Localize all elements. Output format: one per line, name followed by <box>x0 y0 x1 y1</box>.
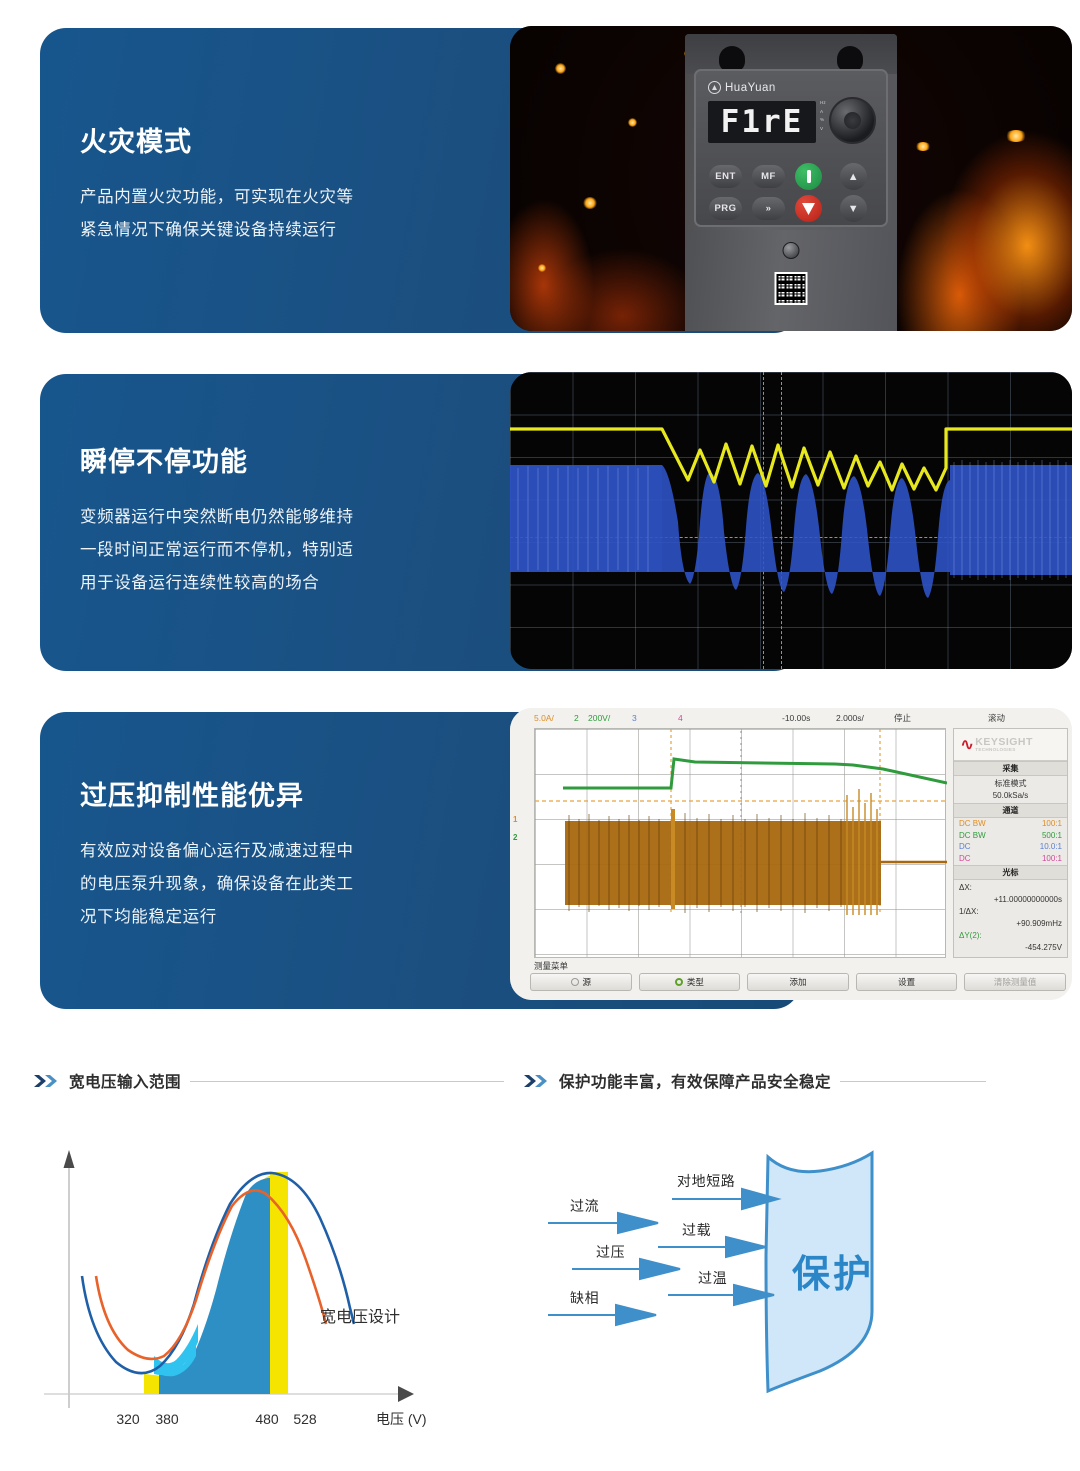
channel-2-number: 2 <box>574 713 579 723</box>
band-wide-voltage-right <box>270 1172 288 1394</box>
time-offset: -10.00s <box>782 713 810 723</box>
keysight-logo: ∿ KEYSIGHT TECHNOLOGIES <box>954 729 1067 761</box>
channel-probe: 10.0:1 <box>1040 841 1062 853</box>
brand-logo: HuaYuan <box>708 81 776 94</box>
arrow-head-overcurrent <box>618 1213 658 1233</box>
delta-y-label: ΔY(2): <box>959 930 1062 942</box>
settings-button-label: 设置 <box>898 976 915 988</box>
shift-button[interactable]: » <box>752 197 785 220</box>
channel-4-number: 4 <box>678 713 683 723</box>
settings-button[interactable]: 设置 <box>856 973 958 991</box>
label-overcurrent: 过流 <box>570 1196 599 1216</box>
channel-2-marker: 2 <box>513 833 517 842</box>
scope-side-panel: ∿ KEYSIGHT TECHNOLOGIES 采集 标准模式 50.0kSa/… <box>953 728 1068 958</box>
type-button-label: 类型 <box>687 976 704 988</box>
scope-ui: 5.0A/ 2 200V/ 3 4 -10.00s 2.000s/ 停止 滚动 <box>510 708 1072 1000</box>
spark-icon <box>583 197 597 209</box>
label-ground-short: 对地短路 <box>677 1171 735 1191</box>
x-tick-320: 320 <box>116 1411 140 1427</box>
unit-label: % <box>820 116 826 125</box>
keypad-panel: HuaYuan F1rE Hz A % V ENT MF <box>694 69 888 227</box>
card-description-line: 一段时间正常运行而不停机，特别适 <box>80 534 430 567</box>
channel-2-scale: 200V/ <box>588 713 610 723</box>
y-axis-arrow <box>64 1150 75 1168</box>
inverter-device: HuaYuan F1rE Hz A % V ENT MF <box>685 34 897 331</box>
arrow-head-overvoltage <box>640 1259 680 1279</box>
acquire-section-header: 采集 <box>954 761 1067 776</box>
run-button[interactable] <box>795 163 822 190</box>
section-rule <box>190 1081 504 1082</box>
lcd-display: F1rE <box>708 101 816 143</box>
x-tick-528: 528 <box>293 1411 317 1427</box>
cursors-section-body: ΔX: +11.00000000000s 1/ΔX: +90.909mHz ΔY… <box>954 880 1067 956</box>
down-arrow-button[interactable] <box>840 195 867 222</box>
channel-probe: 500:1 <box>1042 830 1062 842</box>
delta-x-value: +11.00000000000s <box>959 894 1062 906</box>
scope-traces <box>535 729 947 915</box>
add-button-label: 添加 <box>789 976 806 988</box>
scope-bottom-bar: 测量菜单 源 类型 添加 <box>510 960 1072 1000</box>
channel-1-marker: 1 <box>513 815 517 824</box>
stop-button[interactable] <box>795 195 822 222</box>
cursors-section-header: 光标 <box>954 865 1067 880</box>
channel-coupling: DC BW <box>959 830 986 842</box>
spark-icon <box>555 63 566 74</box>
device-body <box>685 230 897 331</box>
unit-label: A <box>820 108 826 117</box>
acq-mode-label: 滚动 <box>988 712 1005 724</box>
qr-code-label <box>775 272 808 305</box>
keysight-logo-text: KEYSIGHT TECHNOLOGIES <box>975 737 1033 753</box>
x-tick-380: 380 <box>155 1411 179 1427</box>
channel-row: DC 10.0:1 <box>954 841 1067 853</box>
channels-section-header: 通道 <box>954 803 1067 818</box>
feature-card-overvoltage: 过压抑制性能优异 有效应对设备偏心运行及减速过程中 的电压泵升现象，确保设备在此… <box>40 712 1040 1009</box>
feature-card-ride-through: 瞬停不停功能 变频器运行中突然断电仍然能够维持 一段时间正常运行而不停机，特别适… <box>40 374 1040 671</box>
card-description-line: 变频器运行中突然断电仍然能够维持 <box>80 501 430 534</box>
source-button-label: 源 <box>583 976 592 988</box>
channel-probe: 100:1 <box>1042 853 1062 865</box>
sample-rate: 50.0kSa/s <box>959 790 1062 802</box>
delta-y-value: -454.275V <box>959 942 1062 954</box>
ent-button[interactable]: ENT <box>709 165 742 188</box>
card-description-line: 有效应对设备偏心运行及减速过程中 <box>80 835 430 868</box>
channel-coupling: DC <box>959 853 971 865</box>
card-description-line: 紧急情况下确保关键设备持续运行 <box>80 214 430 247</box>
prg-button[interactable]: PRG <box>709 197 742 220</box>
keysight-scope-screenshot: 5.0A/ 2 200V/ 3 4 -10.00s 2.000s/ 停止 滚动 <box>510 708 1072 1000</box>
measure-menu-buttons: 源 类型 添加 设置 清除测量值 <box>530 973 1066 991</box>
spark-icon <box>1005 130 1027 142</box>
spark-icon <box>915 142 931 151</box>
protection-svg <box>520 1135 990 1435</box>
protection-diagram: 对地短路 过流 过载 过压 过温 缺相 保护 <box>520 1135 990 1435</box>
label-phase-loss: 缺相 <box>570 1288 599 1308</box>
waveform-traces <box>510 372 1072 669</box>
section-heading-voltage-range: 宽电压输入范围 <box>34 1070 504 1092</box>
double-chevron-icon <box>34 1074 60 1088</box>
scope-waveform-area: 1 2 <box>534 728 946 958</box>
double-chevron-icon <box>524 1074 550 1088</box>
clear-measurements-button[interactable]: 清除测量值 <box>964 973 1066 991</box>
up-arrow-button[interactable] <box>840 163 867 190</box>
channel-coupling: DC <box>959 841 971 853</box>
card-description-line: 况下均能稳定运行 <box>80 901 430 934</box>
label-overload: 过载 <box>682 1220 711 1240</box>
fire-mode-photo: HuaYuan F1rE Hz A % V ENT MF <box>510 26 1072 331</box>
wide-voltage-chart: 320 380 480 528 电压 (V) 宽电压设计 <box>24 1128 480 1448</box>
scope-top-bar: 5.0A/ 2 200V/ 3 4 -10.00s 2.000s/ 停止 滚动 <box>510 708 1072 728</box>
channel-3-number: 3 <box>632 713 637 723</box>
keysight-brand: KEYSIGHT <box>975 736 1033 748</box>
keypad-row-2: PRG » <box>709 195 867 222</box>
measure-menu-label: 测量菜单 <box>534 960 568 972</box>
channel-row: DC BW 500:1 <box>954 830 1067 842</box>
potentiometer-knob[interactable] <box>829 97 876 144</box>
channel-row: DC BW 100:1 <box>954 818 1067 830</box>
add-button[interactable]: 添加 <box>747 973 849 991</box>
acquire-section-body: 标准模式 50.0kSa/s <box>954 776 1067 803</box>
delta-x-label: ΔX: <box>959 882 1062 894</box>
card-description: 变频器运行中突然断电仍然能够维持 一段时间正常运行而不停机，特别适 用于设备运行… <box>80 501 430 600</box>
x-tick-480: 480 <box>255 1411 279 1427</box>
timebase: 2.000s/ <box>836 713 864 723</box>
spark-icon <box>538 264 546 272</box>
x-axis-arrow <box>398 1386 414 1402</box>
unit-label: Hz <box>820 99 826 108</box>
scope-screen <box>510 372 1072 669</box>
channel-coupling: DC BW <box>959 818 986 830</box>
section-heading-protection: 保护功能丰富，有效保障产品安全稳定 <box>524 1070 986 1092</box>
label-overvoltage: 过压 <box>596 1242 625 1262</box>
keysight-wave-icon: ∿ <box>960 735 972 755</box>
screw-icon <box>783 242 800 259</box>
channel-probe: 100:1 <box>1042 818 1062 830</box>
run-state: 停止 <box>894 712 911 724</box>
label-overtemp: 过温 <box>698 1268 727 1288</box>
source-icon <box>571 978 579 986</box>
shield-center-label: 保护 <box>792 1243 874 1298</box>
mf-button[interactable]: MF <box>752 165 785 188</box>
section-rule <box>840 1081 986 1082</box>
arrow-head-phase-loss <box>616 1305 656 1325</box>
acquire-mode: 标准模式 <box>959 778 1062 790</box>
device-top-cover <box>685 34 897 74</box>
source-button[interactable]: 源 <box>530 973 632 991</box>
card-description-line: 用于设备运行连续性较高的场合 <box>80 567 430 600</box>
keysight-subbrand: TECHNOLOGIES <box>975 748 1033 753</box>
section-title: 保护功能丰富，有效保障产品安全稳定 <box>559 1070 831 1092</box>
keypad-row-1: ENT MF <box>709 163 867 190</box>
brand-mark-icon <box>708 81 721 94</box>
x-axis-label: 电压 (V) <box>376 1411 427 1427</box>
unit-label: V <box>820 125 826 134</box>
page-root: 火灾模式 产品内置火灾功能，可实现在火灾等 紧急情况下确保关键设备持续运行 <box>0 0 1080 1471</box>
card-description: 产品内置火灾功能，可实现在火灾等 紧急情况下确保关键设备持续运行 <box>80 181 430 247</box>
card-description-line: 的电压泵升现象，确保设备在此类工 <box>80 868 430 901</box>
spark-icon <box>628 118 637 127</box>
channel-row: DC 100:1 <box>954 853 1067 865</box>
ride-through-waveform <box>510 372 1072 669</box>
inv-delta-x-value: +90.909mHz <box>959 918 1062 930</box>
section-title: 宽电压输入范围 <box>69 1070 181 1092</box>
arrow-head-overload <box>726 1237 766 1257</box>
lcd-value: F1rE <box>721 107 804 138</box>
brand-name: HuaYuan <box>725 82 776 94</box>
clear-measurements-label: 清除测量值 <box>994 976 1037 988</box>
type-icon <box>675 978 683 986</box>
unit-indicators: Hz A % V <box>820 99 826 134</box>
card-description-line: 产品内置火灾功能，可实现在火灾等 <box>80 181 430 214</box>
feature-card-fire-mode: 火灾模式 产品内置火灾功能，可实现在火灾等 紧急情况下确保关键设备持续运行 <box>40 28 1040 333</box>
chart-annotation: 宽电压设计 <box>320 1308 400 1326</box>
channel-1-scale: 5.0A/ <box>534 713 554 723</box>
chart-svg: 320 380 480 528 电压 (V) 宽电压设计 <box>24 1128 480 1448</box>
inv-delta-x-label: 1/ΔX: <box>959 906 1062 918</box>
type-button[interactable]: 类型 <box>639 973 741 991</box>
card-description: 有效应对设备偏心运行及减速过程中 的电压泵升现象，确保设备在此类工 况下均能稳定… <box>80 835 430 934</box>
